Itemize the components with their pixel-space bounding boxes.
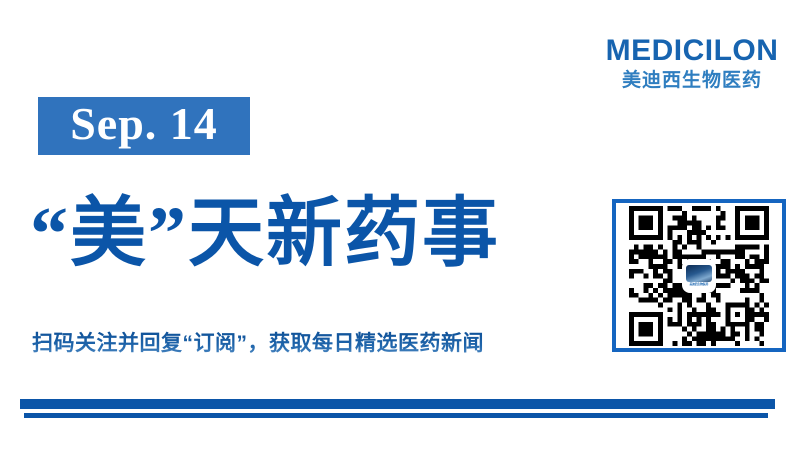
subtitle-text: 扫码关注并回复“订阅”，获取每日精选医药新闻 <box>32 330 592 358</box>
poster-canvas: MEDICILON 美迪西生物医药 Sep. 14 “美”天新药事 扫码关注并回… <box>0 0 800 468</box>
qr-code[interactable]: 美迪西生物医药 <box>629 206 769 346</box>
brand-logo: MEDICILON 美迪西生物医药 <box>596 36 788 90</box>
headline-title: “美”天新药事 <box>30 186 590 282</box>
brand-sub-name: 美迪西生物医药 <box>596 71 788 90</box>
brand-wordmark: MEDICILON <box>596 36 788 66</box>
qr-code-frame[interactable]: 美迪西生物医药 <box>612 199 786 352</box>
date-badge: Sep. 14 <box>38 97 250 155</box>
qr-logo-caption: 美迪西生物医药 <box>690 283 709 286</box>
bottom-rule-thick <box>20 399 775 409</box>
bottom-rule-thin <box>24 413 768 418</box>
qr-logo-image <box>686 265 712 282</box>
qr-center-logo: 美迪西生物医药 <box>684 261 714 291</box>
date-badge-label: Sep. 14 <box>70 101 218 147</box>
